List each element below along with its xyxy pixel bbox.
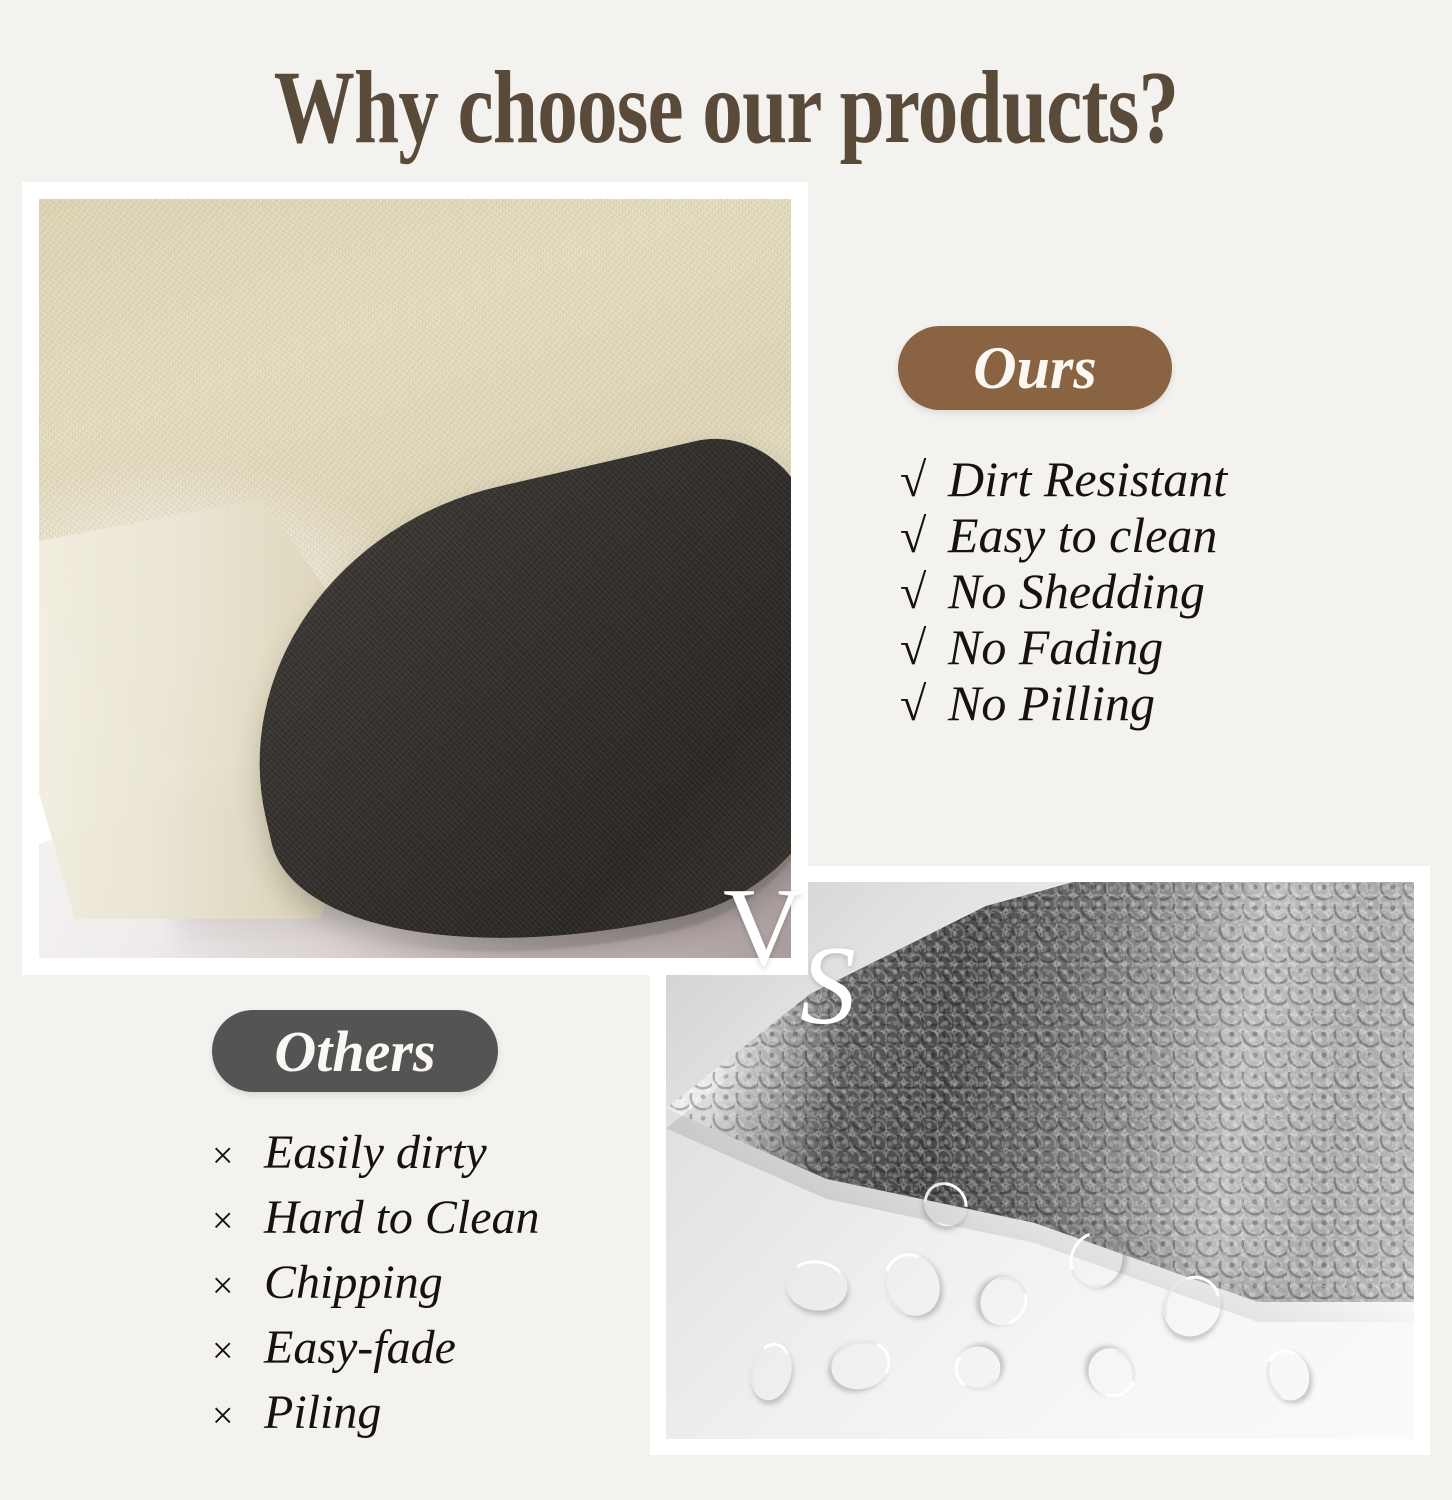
list-item-label: Easy to clean (948, 508, 1217, 563)
list-item-label: No Shedding (948, 564, 1205, 619)
list-item: √ No Shedding (900, 564, 1227, 620)
list-item: × Easy-fade (212, 1317, 540, 1382)
list-item: √ Easy to clean (900, 508, 1227, 564)
list-item-label: Easy-fade (264, 1317, 456, 1378)
check-icon: √ (900, 677, 948, 732)
check-icon: √ (900, 509, 948, 564)
list-item: √ Dirt Resistant (900, 452, 1227, 508)
list-item: × Easily dirty (212, 1122, 540, 1187)
others-badge: Others (212, 1010, 498, 1092)
vs-letter-v: V (723, 872, 804, 984)
list-item: √ No Fading (900, 620, 1227, 676)
list-item-label: Piling (264, 1382, 381, 1443)
list-item: √ No Pilling (900, 676, 1227, 732)
ours-badge: Ours (898, 326, 1172, 410)
ours-product-photo (39, 199, 791, 958)
shed-fiber (783, 1256, 845, 1307)
list-item: × Chipping (212, 1252, 540, 1317)
page-title: Why choose our products? (160, 52, 1293, 164)
list-item-label: No Pilling (948, 676, 1155, 731)
ours-photo-frame (22, 182, 808, 975)
list-item-label: Hard to Clean (264, 1187, 540, 1248)
cross-icon: × (212, 1126, 264, 1187)
list-item-label: Chipping (264, 1252, 443, 1313)
list-item: × Hard to Clean (212, 1187, 540, 1252)
cross-icon: × (212, 1386, 264, 1447)
list-item-label: Dirt Resistant (948, 452, 1227, 507)
shed-fiber (952, 1350, 998, 1394)
cross-icon: × (212, 1321, 264, 1382)
list-item-label: Easily dirty (264, 1122, 487, 1183)
comparison-infographic: Why choose our products? (0, 0, 1452, 1500)
check-icon: √ (900, 453, 948, 508)
others-feature-list: × Easily dirty × Hard to Clean × Chippin… (212, 1122, 540, 1447)
list-item: × Piling (212, 1382, 540, 1447)
ours-feature-list: √ Dirt Resistant √ Easy to clean √ No Sh… (900, 452, 1227, 732)
vs-letter-s: S (800, 930, 856, 1042)
cross-icon: × (212, 1191, 264, 1252)
check-icon: √ (900, 565, 948, 620)
cross-icon: × (212, 1256, 264, 1317)
check-icon: √ (900, 621, 948, 676)
list-item-label: No Fading (948, 620, 1163, 675)
